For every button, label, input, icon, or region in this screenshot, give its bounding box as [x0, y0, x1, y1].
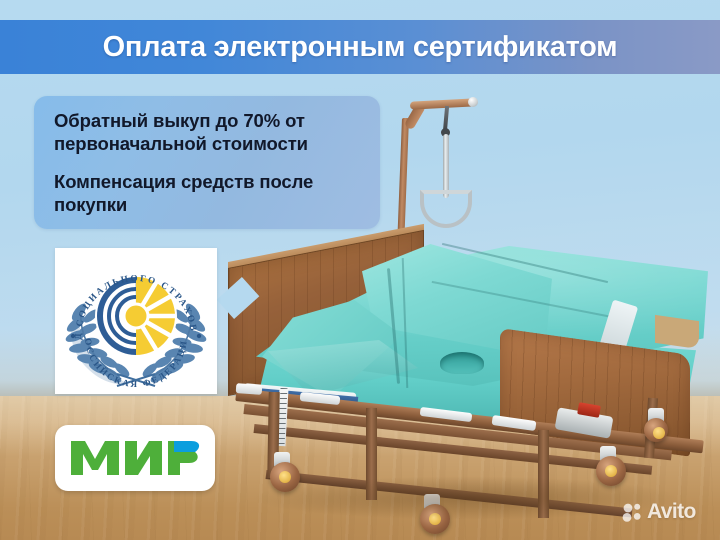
fss-logo: ФОНД СОЦИАЛЬНОГО СТРАХОВАНИЯ РОССИЙСКАЯ …	[59, 250, 213, 392]
wheel-caster	[644, 418, 668, 442]
fss-text-dot	[197, 334, 201, 338]
mir-logo-card	[55, 425, 215, 491]
benefit-line-1: Обратный выкуп до 70% от первоначальной …	[54, 109, 364, 156]
avito-watermark: Avito	[622, 500, 696, 524]
mir-letter-i	[125, 441, 162, 475]
avito-dots-icon	[622, 502, 642, 522]
avito-wordmark: Avito	[647, 500, 696, 524]
mir-logo	[69, 437, 201, 479]
header-banner: Оплата электронным сертификатом	[0, 20, 720, 74]
bed-ground-shadow	[250, 476, 680, 520]
mir-letter-m	[71, 441, 119, 475]
advertisement-image: Оплата электронным сертификатом Обратный…	[0, 0, 720, 540]
mattress-toilet-opening	[440, 352, 484, 374]
benefits-callout-box: Обратный выкуп до 70% от первоначальной …	[34, 96, 380, 229]
bed-control-bracket	[236, 383, 263, 395]
benefit-line-2: Компенсация средств после покупки	[54, 170, 364, 217]
siderail-notch	[655, 315, 699, 349]
fss-logo-card: ФОНД СОЦИАЛЬНОГО СТРАХОВАНИЯ РОССИЙСКАЯ …	[55, 248, 217, 394]
fss-text-dot	[71, 334, 75, 338]
banner-title: Оплата электронным сертификатом	[103, 31, 618, 64]
